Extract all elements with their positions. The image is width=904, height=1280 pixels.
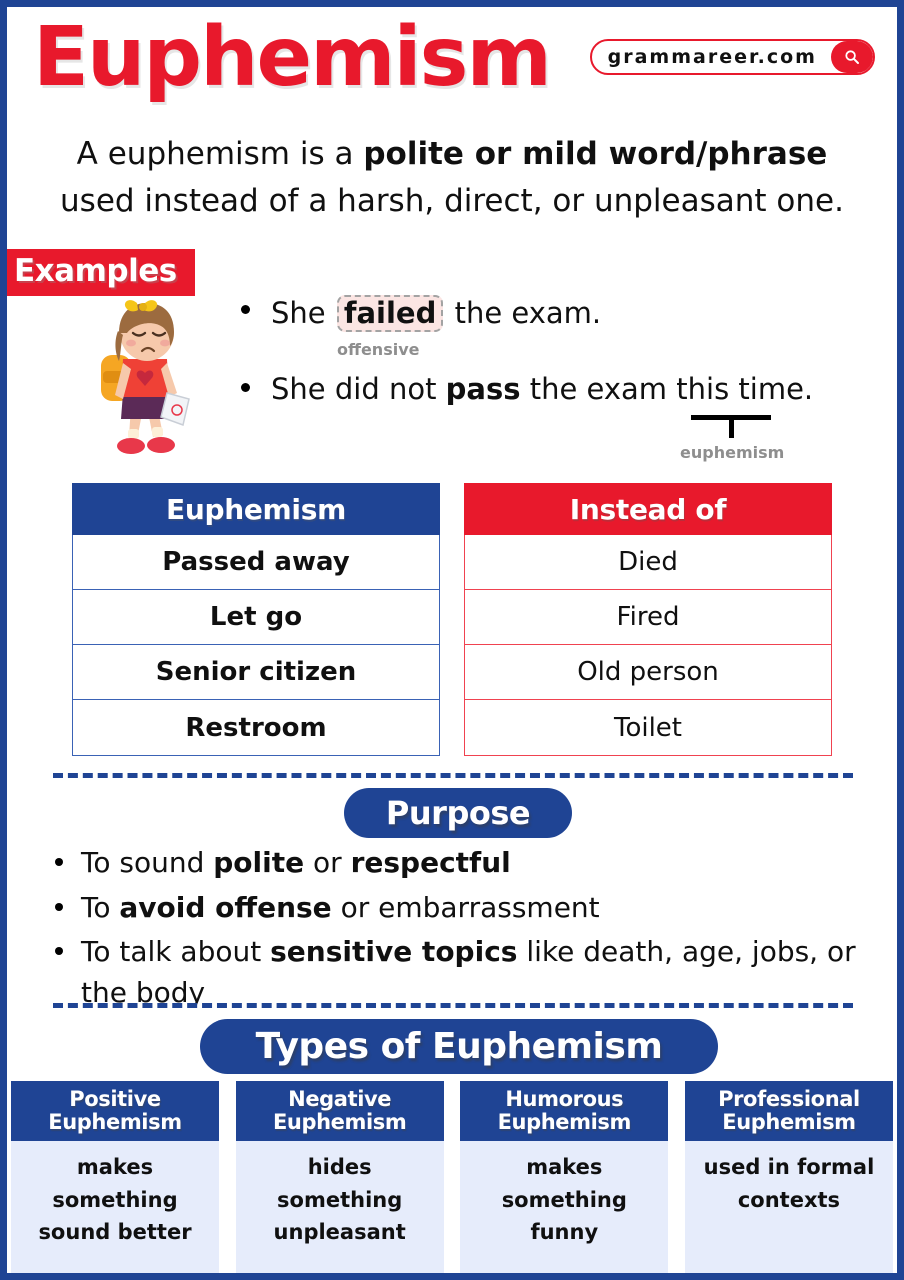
type-card-professional-title: Professional Euphemism xyxy=(685,1081,893,1141)
definition-text: A euphemism is a polite or mild word/phr… xyxy=(35,131,869,225)
purpose-3-pre: To talk about xyxy=(81,935,270,968)
header: Euphemism grammareer.com xyxy=(7,7,897,125)
type-card-professional-title-line1: Professional xyxy=(689,1088,889,1111)
purpose-2-mid: or embarrassment xyxy=(332,891,600,924)
purpose-1-bold-1: polite xyxy=(213,846,304,879)
table-row: Old person xyxy=(465,645,831,700)
definition-part-2: used instead of a harsh, direct, or unpl… xyxy=(60,183,844,219)
examples-badge: Examples xyxy=(0,249,195,296)
purpose-1-bold-2: respectful xyxy=(351,846,511,879)
purpose-banner: Purpose xyxy=(344,788,572,838)
example-2-prefix: She did not xyxy=(271,372,446,406)
list-item: To sound polite or respectful xyxy=(45,843,875,884)
definition-part-1: A euphemism is a xyxy=(77,136,364,172)
list-item: To avoid offense or embarrassment xyxy=(45,888,875,929)
euphemism-caption: euphemism xyxy=(680,443,784,462)
infographic-page: Euphemism grammareer.com A euphemism is … xyxy=(0,0,904,1280)
table-row: Fired xyxy=(465,590,831,645)
page-title: Euphemism xyxy=(33,17,550,99)
table-row: Passed away xyxy=(73,535,439,590)
comparison-tables: Euphemism Passed away Let go Senior citi… xyxy=(7,483,897,756)
purpose-2-bold-1: avoid offense xyxy=(119,891,331,924)
bullet-icon xyxy=(241,383,250,392)
type-card-humorous-title-line2: Euphemism xyxy=(464,1111,664,1134)
type-card-humorous-title: Humorous Euphemism xyxy=(460,1081,668,1141)
purpose-1-mid: or xyxy=(304,846,350,879)
type-card-negative-title-line1: Negative xyxy=(240,1088,440,1111)
section-divider xyxy=(53,1003,853,1008)
type-card-humorous-body: makes something funny xyxy=(460,1141,668,1280)
instead-of-table-header: Instead of xyxy=(464,483,832,535)
list-item: She failed the exam. offensive xyxy=(237,295,887,359)
site-logo-badge[interactable]: grammareer.com xyxy=(590,39,875,75)
sad-schoolgirl-icon xyxy=(85,297,205,462)
type-card-positive-title: Positive Euphemism xyxy=(11,1081,219,1141)
purpose-list: To sound polite or respectful To avoid o… xyxy=(45,843,875,1017)
type-card-negative-body: hides something unpleasant xyxy=(236,1141,444,1280)
euphemism-table-header: Euphemism xyxy=(72,483,440,535)
search-icon[interactable] xyxy=(831,41,873,73)
list-item: To talk about sensitive topics like deat… xyxy=(45,932,875,1013)
instead-of-table: Instead of Died Fired Old person Toilet xyxy=(464,483,832,756)
type-card-professional-title-line2: Euphemism xyxy=(689,1111,889,1134)
example-2-suffix: the exam this time. xyxy=(521,372,814,406)
examples-section: She failed the exam. offensive She did n… xyxy=(7,295,897,475)
table-row: Let go xyxy=(73,590,439,645)
types-cards: Positive Euphemism makes something sound… xyxy=(7,1081,897,1280)
section-divider xyxy=(53,773,853,778)
type-card-professional: Professional Euphemism used in formal co… xyxy=(685,1081,893,1280)
type-card-humorous: Humorous Euphemism makes something funny xyxy=(460,1081,668,1280)
purpose-1-pre: To sound xyxy=(81,846,213,879)
euphemism-table: Euphemism Passed away Let go Senior citi… xyxy=(72,483,440,756)
type-card-professional-body: used in formal contexts xyxy=(685,1141,893,1280)
offensive-word-highlight: failed xyxy=(337,295,444,332)
definition-bold: polite or mild word/phrase xyxy=(363,136,827,172)
list-item: She did not pass the exam this time. xyxy=(237,373,887,406)
site-logo-text: grammareer.com xyxy=(592,41,831,73)
type-card-positive-title-line1: Positive xyxy=(15,1088,215,1111)
bullet-icon xyxy=(55,947,63,955)
type-card-positive-body: makes something sound better xyxy=(11,1141,219,1280)
type-card-positive: Positive Euphemism makes something sound… xyxy=(11,1081,219,1280)
type-card-negative-title: Negative Euphemism xyxy=(236,1081,444,1141)
euphemism-word-highlight: pass xyxy=(446,372,521,406)
table-row: Restroom xyxy=(73,700,439,755)
type-card-negative-title-line2: Euphemism xyxy=(240,1111,440,1134)
example-1-suffix: the exam. xyxy=(445,296,601,330)
type-card-humorous-title-line1: Humorous xyxy=(464,1088,664,1111)
bullet-icon xyxy=(55,903,63,911)
euphemism-pointer-icon xyxy=(691,415,771,438)
bullet-icon xyxy=(55,858,63,866)
purpose-3-bold-1: sensitive topics xyxy=(270,935,517,968)
examples-list: She failed the exam. offensive She did n… xyxy=(237,295,887,406)
table-row: Toilet xyxy=(465,700,831,755)
table-row: Senior citizen xyxy=(73,645,439,700)
bullet-icon xyxy=(241,305,250,314)
purpose-2-pre: To xyxy=(81,891,119,924)
offensive-caption: offensive xyxy=(337,341,419,359)
types-banner: Types of Euphemism xyxy=(200,1019,718,1074)
table-row: Died xyxy=(465,535,831,590)
type-card-positive-title-line2: Euphemism xyxy=(15,1111,215,1134)
type-card-negative: Negative Euphemism hides something unple… xyxy=(236,1081,444,1280)
example-1-prefix: She xyxy=(271,296,335,330)
